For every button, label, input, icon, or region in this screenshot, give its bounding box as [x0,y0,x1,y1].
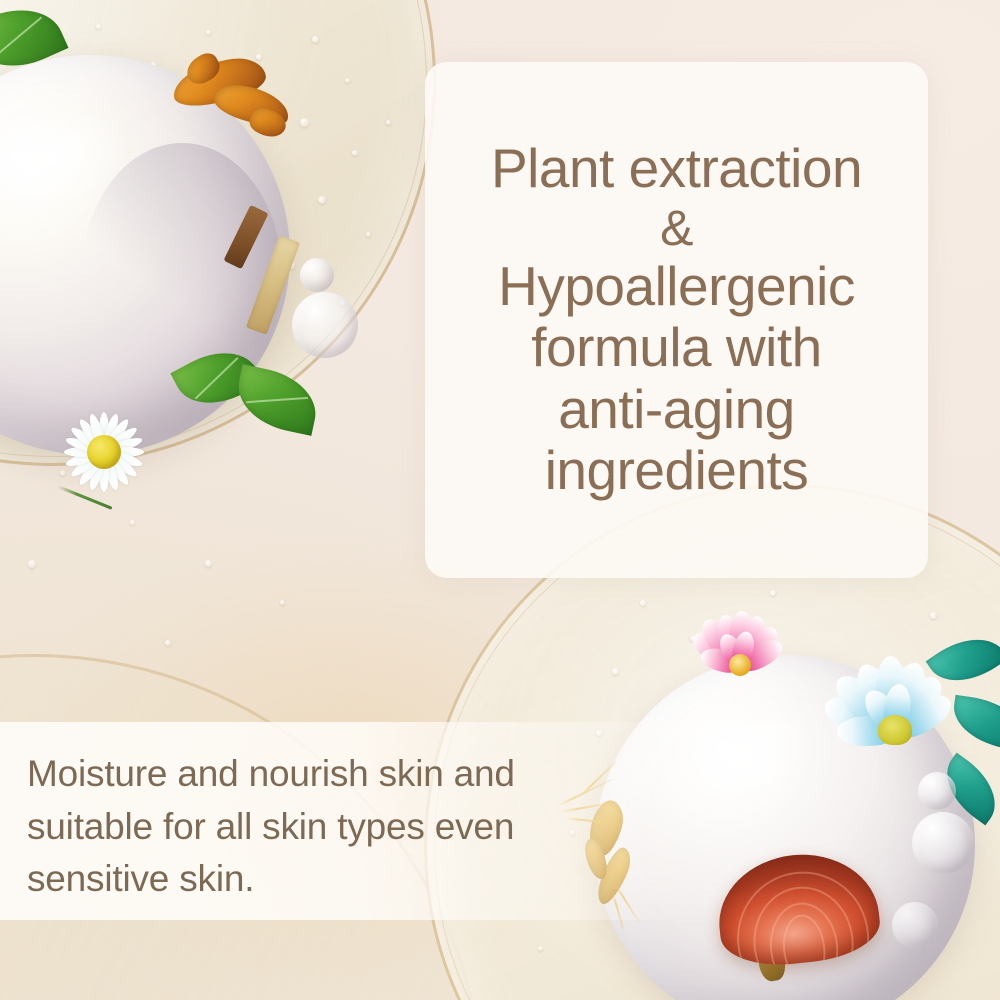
caption-text: Moisture and nourish skin and suitable f… [27,748,607,906]
daisy-center [87,435,121,469]
clear-bubble-br-large [912,812,974,874]
headline-line-6: ingredients [491,440,862,502]
product-banner: Plant extraction & Hypoallergenic formul… [0,0,1000,1000]
clear-bubble-large [292,292,358,358]
pink-peony-center [729,654,751,676]
headline-line-1: Plant extraction [491,138,862,200]
clear-bubble-small [300,258,334,292]
caption-line-2: suitable for all skin types even [27,801,607,854]
headline-line-5: anti-aging [491,379,862,441]
clear-bubble-br-tiny [892,902,938,948]
headline-card: Plant extraction & Hypoallergenic formul… [425,62,928,578]
caption-line-3: sensitive skin. [27,853,607,906]
page-title: Plant extraction & Hypoallergenic formul… [491,138,862,502]
caption-line-1: Moisture and nourish skin and [27,748,607,801]
headline-line-3: Hypoallergenic [491,256,862,318]
clear-bubble-br-small [918,772,956,810]
headline-line-4: formula with [491,317,862,379]
blue-peony-center [878,715,912,745]
headline-line-2: & [491,200,862,256]
